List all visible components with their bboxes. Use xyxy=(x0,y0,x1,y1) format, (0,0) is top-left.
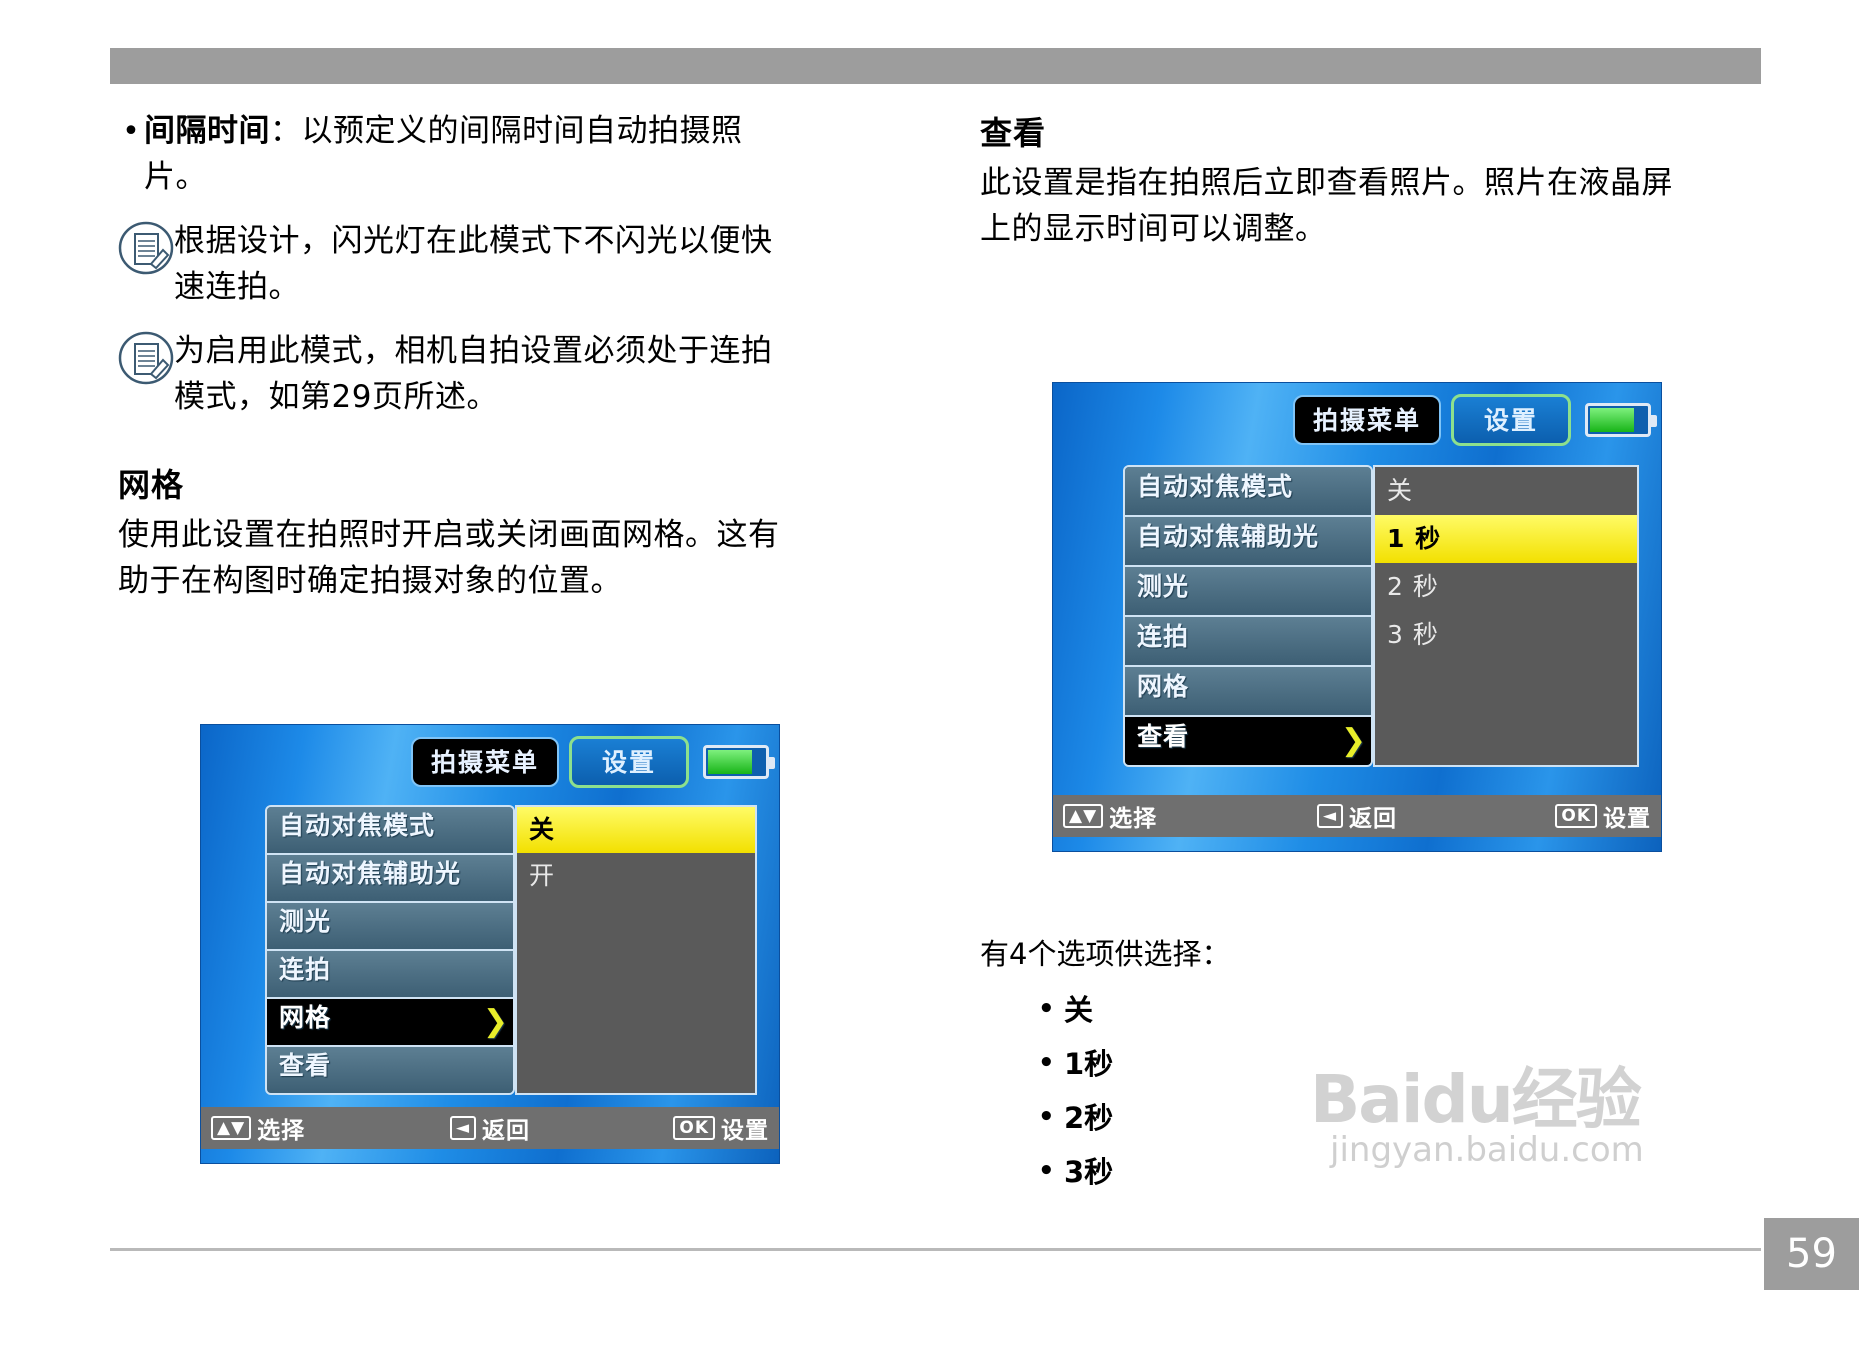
lcd-menu-item-label: 自动对焦模式 xyxy=(1137,472,1293,501)
bullet-text: 间隔时间：以预定义的间隔时间自动拍摄照片。 xyxy=(144,108,798,200)
section-heading-grid: 网格 xyxy=(118,460,798,506)
right-column: 查看 此设置是指在拍照后立即查看照片。照片在液晶屏上的显示时间可以调整。 xyxy=(980,108,1680,252)
lcd-footer-hints: ▲▼选择◄返回OK设置 xyxy=(201,1107,779,1149)
lcd-value-panel: 关1 秒2 秒3 秒 xyxy=(1373,465,1639,767)
lcd-menu-item[interactable]: 网格❯ xyxy=(267,999,513,1047)
lcd-menu-list: 自动对焦模式自动对焦辅助光测光连拍网格❯查看 xyxy=(265,805,515,1095)
lcd-footer-key-label: 选择 xyxy=(257,1111,305,1145)
list-item: 2秒 xyxy=(1038,1091,1620,1145)
lcd-menu-item[interactable]: 查看 xyxy=(267,1047,513,1093)
bullet-separator: ： xyxy=(270,113,302,149)
header-bar xyxy=(110,48,1761,84)
camera-lcd-grid: 拍摄菜单 设置 自动对焦模式自动对焦辅助光测光连拍网格❯查看 关开 ▲▼选择◄返… xyxy=(200,724,780,1164)
section-heading-review: 查看 xyxy=(980,108,1680,154)
bullet-item-interval: • 间隔时间：以预定义的间隔时间自动拍摄照片。 xyxy=(118,108,798,200)
list-item: 1秒 xyxy=(1038,1037,1620,1091)
lcd-footer-key-label: 返回 xyxy=(482,1111,530,1145)
lcd-menu-item[interactable]: 网格 xyxy=(1125,667,1371,717)
lcd-menu-item-label: 测光 xyxy=(1137,572,1189,601)
lcd-footer-hint: ▲▼选择 xyxy=(201,1111,394,1145)
lcd-menu-item[interactable]: 自动对焦模式 xyxy=(267,807,513,855)
lcd-footer-key-label: 设置 xyxy=(1603,799,1651,833)
lcd-menu-item-label: 连拍 xyxy=(1137,622,1189,651)
lcd-value-option[interactable]: 开 xyxy=(517,853,755,899)
lcd-footer-hint: ▲▼选择 xyxy=(1053,799,1256,833)
lcd-menu-item-label: 自动对焦辅助光 xyxy=(1137,522,1319,551)
options-block: 有4个选项供选择： 关1秒2秒3秒 xyxy=(980,905,1620,1199)
note-text-1: 根据设计，闪光灯在此模式下不闪光以便快速连拍。 xyxy=(174,216,798,310)
lcd-menu-item-label: 连拍 xyxy=(279,955,331,984)
lcd-footer-key-icon: ◄ xyxy=(1317,804,1343,828)
bullet-term: 间隔时间 xyxy=(144,113,270,149)
lcd-footer-key-icon: ▲▼ xyxy=(211,1116,251,1140)
lcd-value-option[interactable]: 关 xyxy=(1375,467,1637,515)
lcd-menu-item-label: 测光 xyxy=(279,907,331,936)
battery-icon xyxy=(703,745,769,779)
lcd-value-option[interactable]: 关 xyxy=(517,807,755,853)
lcd-footer-key-icon: OK xyxy=(1555,804,1597,828)
lcd-value-panel: 关开 xyxy=(515,805,757,1095)
lcd-footer-hint: ◄返回 xyxy=(1256,799,1459,833)
lcd-footer-hint: ◄返回 xyxy=(394,1111,587,1145)
section-body-grid: 使用此设置在拍照时开启或关闭画面网格。这有助于在构图时确定拍摄对象的位置。 xyxy=(118,512,798,604)
lcd-menu-item[interactable]: 测光 xyxy=(1125,567,1371,617)
bullet-marker: • xyxy=(118,108,144,156)
lcd-menu-item[interactable]: 连拍 xyxy=(1125,617,1371,667)
lcd-menu-list: 自动对焦模式自动对焦辅助光测光连拍网格查看❯ xyxy=(1123,465,1373,767)
list-item: 3秒 xyxy=(1038,1145,1620,1199)
options-intro: 有4个选项供选择： xyxy=(980,931,1620,977)
lcd-menu-item-label: 查看 xyxy=(1137,722,1189,751)
note-pad-icon xyxy=(118,330,174,386)
lcd-menu-item-label: 网格 xyxy=(1137,672,1189,701)
lcd-menu-item[interactable]: 查看❯ xyxy=(1125,717,1371,765)
lcd-footer-key-icon: OK xyxy=(673,1116,715,1140)
lcd-footer-key-label: 设置 xyxy=(721,1111,769,1145)
footer-divider xyxy=(110,1248,1761,1251)
tab-setup[interactable]: 设置 xyxy=(569,736,689,788)
lcd-footer-key-icon: ◄ xyxy=(450,1116,476,1140)
note-block-2: 为启用此模式，相机自拍设置必须处于连拍模式，如第29页所述。 xyxy=(118,326,798,420)
lcd-menu-item[interactable]: 自动对焦模式 xyxy=(1125,467,1371,517)
lcd-value-option[interactable]: 3 秒 xyxy=(1375,611,1637,659)
lcd-footer-hint: OK设置 xyxy=(586,1111,779,1145)
lcd-menu-item[interactable]: 自动对焦辅助光 xyxy=(267,855,513,903)
note-pad-icon xyxy=(118,220,174,276)
lcd-menu-item-label: 自动对焦模式 xyxy=(279,811,435,840)
lcd-menu-area: 自动对焦模式自动对焦辅助光测光连拍网格❯查看 关开 xyxy=(265,805,757,1095)
lcd-footer-key-label: 选择 xyxy=(1109,799,1157,833)
lcd-footer-key-label: 返回 xyxy=(1349,799,1397,833)
lcd-menu-area: 自动对焦模式自动对焦辅助光测光连拍网格查看❯ 关1 秒2 秒3 秒 xyxy=(1123,465,1639,767)
lcd-value-option[interactable]: 1 秒 xyxy=(1375,515,1637,563)
section-body-review: 此设置是指在拍照后立即查看照片。照片在液晶屏上的显示时间可以调整。 xyxy=(980,160,1680,252)
left-column: • 间隔时间：以预定义的间隔时间自动拍摄照片。 根据设计，闪光灯在此模式下不闪光… xyxy=(118,108,798,604)
lcd-menu-item[interactable]: 测光 xyxy=(267,903,513,951)
page-number: 59 xyxy=(1764,1218,1859,1290)
lcd-value-option[interactable]: 2 秒 xyxy=(1375,563,1637,611)
list-item: 关 xyxy=(1038,983,1620,1037)
lcd-footer-key-icon: ▲▼ xyxy=(1063,804,1103,828)
options-list: 关1秒2秒3秒 xyxy=(980,983,1620,1199)
battery-icon xyxy=(1585,403,1651,437)
lcd-top-bar: 拍摄菜单 设置 xyxy=(201,739,779,785)
lcd-menu-item-label: 查看 xyxy=(279,1051,331,1080)
lcd-footer-hints: ▲▼选择◄返回OK设置 xyxy=(1053,795,1661,837)
lcd-footer-hint: OK设置 xyxy=(1458,799,1661,833)
lcd-top-bar: 拍摄菜单 设置 xyxy=(1053,397,1661,443)
camera-lcd-review: 拍摄菜单 设置 自动对焦模式自动对焦辅助光测光连拍网格查看❯ 关1 秒2 秒3 … xyxy=(1052,382,1662,852)
tab-shooting-menu[interactable]: 拍摄菜单 xyxy=(411,737,559,787)
lcd-menu-item-label: 自动对焦辅助光 xyxy=(279,859,461,888)
lcd-menu-item[interactable]: 自动对焦辅助光 xyxy=(1125,517,1371,567)
note-block-1: 根据设计，闪光灯在此模式下不闪光以便快速连拍。 xyxy=(118,216,798,310)
lcd-menu-item-label: 网格 xyxy=(279,1003,331,1032)
document-page: • 间隔时间：以预定义的间隔时间自动拍摄照片。 根据设计，闪光灯在此模式下不闪光… xyxy=(0,0,1871,1361)
lcd-menu-item[interactable]: 连拍 xyxy=(267,951,513,999)
note-text-2: 为启用此模式，相机自拍设置必须处于连拍模式，如第29页所述。 xyxy=(174,326,798,420)
tab-shooting-menu[interactable]: 拍摄菜单 xyxy=(1293,395,1441,445)
tab-setup[interactable]: 设置 xyxy=(1451,394,1571,446)
